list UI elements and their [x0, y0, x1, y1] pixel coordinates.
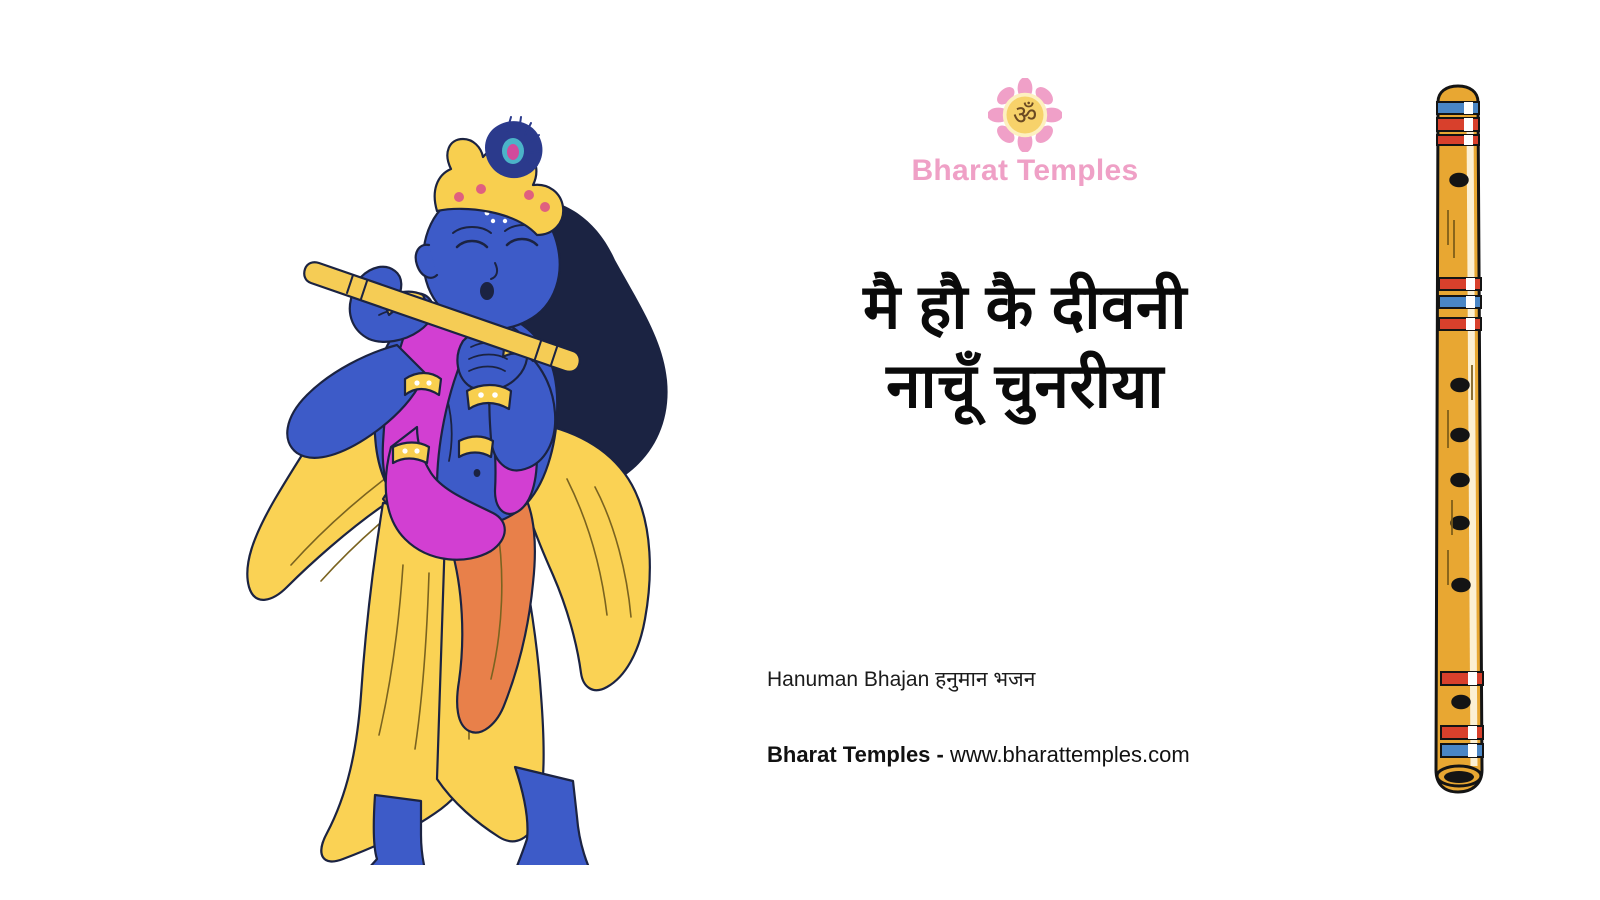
om-symbol-glyph: ॐ	[1013, 100, 1037, 130]
om-lotus-icon: ॐ	[988, 78, 1062, 152]
krishna-lips	[480, 282, 494, 300]
page-title: मै हौ कै दीवनी नाचूँ चुनरीया	[735, 268, 1315, 427]
subtitle-text: Hanuman Bhajan हनुमान भजन	[767, 665, 1035, 693]
bamboo-flute-illustration	[1412, 80, 1512, 810]
footer-attribution: Bharat Temples - www.bharattemples.com	[767, 742, 1190, 768]
flute-bands-middle	[1439, 278, 1481, 330]
footer-separator: -	[937, 742, 944, 767]
flute-bands-top	[1437, 102, 1479, 145]
brand-logo: ॐ Bharat Temples	[735, 78, 1315, 187]
flute-body	[1436, 86, 1483, 792]
title-line-1: मै हौ कै दीवनी	[735, 268, 1315, 347]
footer-site-url: www.bharattemples.com	[950, 742, 1190, 767]
footer-site-name: Bharat Temples	[767, 742, 930, 767]
content-column: ॐ Bharat Temples मै हौ कै दीवनी नाचूँ चु…	[735, 0, 1375, 900]
peacock-feather	[485, 117, 542, 178]
poster-canvas: ॐ Bharat Temples मै हौ कै दीवनी नाचूँ चु…	[0, 0, 1600, 900]
krishna-illustration	[215, 95, 715, 865]
title-line-2: नाचूँ चुनरीया	[735, 347, 1315, 426]
brand-name: Bharat Temples	[735, 154, 1315, 187]
